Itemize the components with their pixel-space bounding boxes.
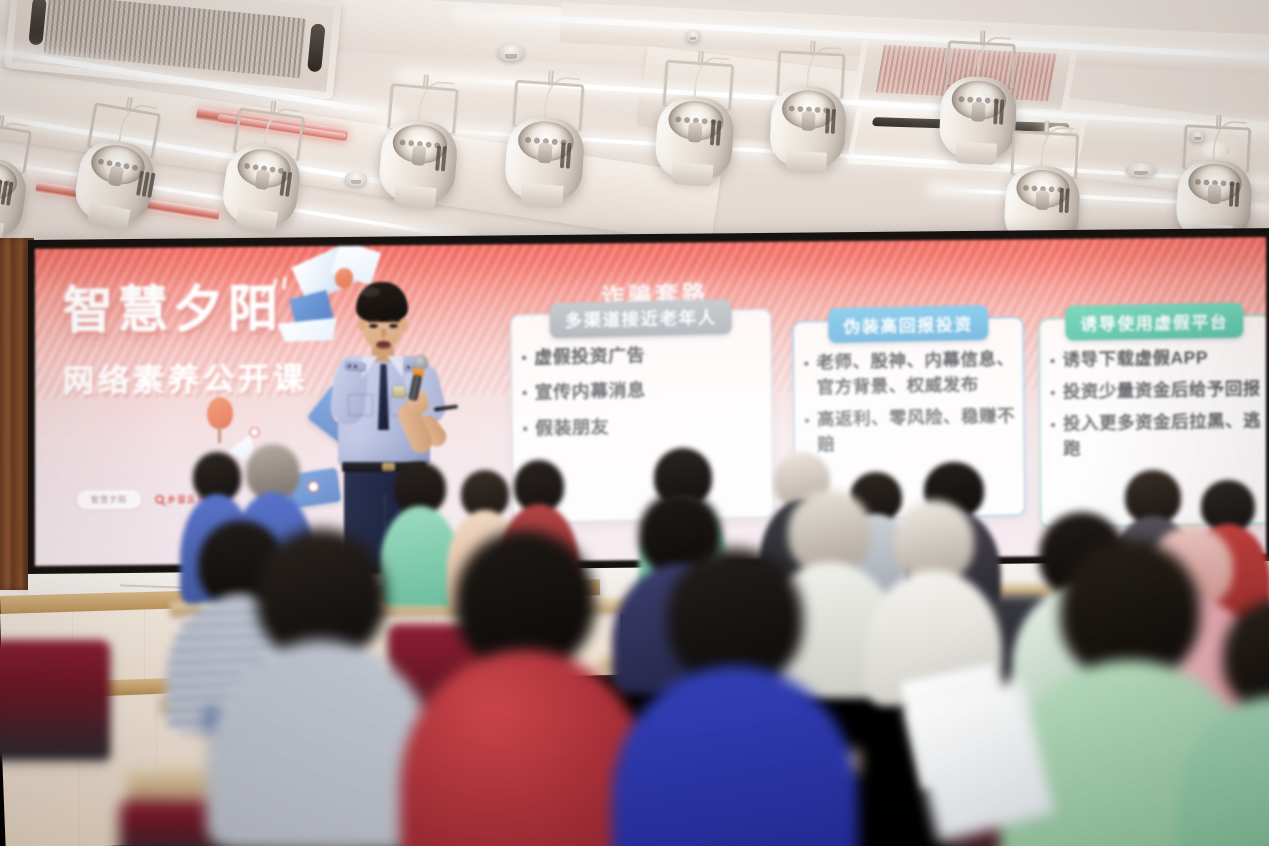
audience-head: [455, 530, 595, 670]
presenter-eye-right: [389, 324, 398, 328]
presenter-badge-icon: [393, 386, 405, 397]
presenter-hair: [356, 282, 408, 322]
ceiling: [0, 0, 1269, 252]
audience-member: [1198, 600, 1269, 846]
smoke-detector-icon: [345, 172, 367, 186]
ac-vent-slot-right: [307, 23, 326, 72]
presenter-eye-left: [369, 324, 378, 328]
audience-torso: [612, 666, 858, 846]
presenter-pocket-left: [348, 394, 373, 416]
smoke-detector-icon: [498, 44, 524, 61]
smoke-detector-icon: [686, 30, 700, 42]
audience-head: [1223, 600, 1269, 712]
audience-head: [1060, 540, 1200, 680]
audience-member: [640, 548, 830, 846]
presenter-ear-right: [400, 318, 408, 331]
presenter-mouth: [376, 341, 391, 349]
chair: [0, 640, 110, 760]
presenter-nose: [381, 329, 386, 338]
audience-member: [430, 530, 620, 846]
ceiling-speaker-icon: [1126, 163, 1156, 177]
audience-member: [236, 528, 406, 828]
lecture-hall-scene: 智慧夕阳 网络素养公开课 智慧夕阳 乡音反诈 诈骗套路 多渠道接近老年人: [0, 0, 1269, 846]
presenter-collar-right: [387, 356, 403, 378]
